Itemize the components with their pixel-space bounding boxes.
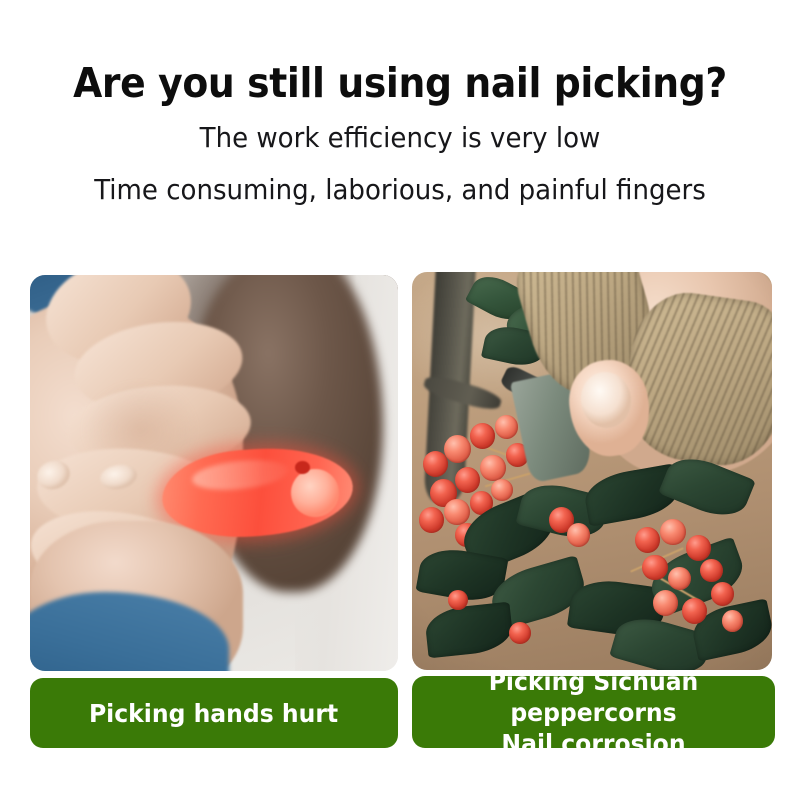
photo-vignette xyxy=(412,272,772,670)
peppercorn-picking-photo xyxy=(412,272,772,670)
caption-right-text: Picking Sichuan peppercorns Nail corrosi… xyxy=(423,666,764,759)
nail-injury-spot xyxy=(295,461,310,474)
caption-bar-right[interactable]: Picking Sichuan peppercorns Nail corrosi… xyxy=(412,676,775,748)
subtitle-line-2: Time consuming, laborious, and painful f… xyxy=(28,171,772,209)
promo-page: Are you still using nail picking? The wo… xyxy=(0,0,800,800)
caption-bar-left[interactable]: Picking hands hurt xyxy=(30,678,398,748)
hand-injury-photo xyxy=(30,275,398,671)
page-title: Are you still using nail picking? xyxy=(32,58,768,108)
caption-left-text: Picking hands hurt xyxy=(89,698,338,729)
subtitle-line-1: The work efficiency is very low xyxy=(28,119,772,157)
header-text-block: Are you still using nail picking? The wo… xyxy=(0,58,800,209)
photo-panel-right xyxy=(412,272,772,670)
photo-panel-left xyxy=(30,275,398,671)
